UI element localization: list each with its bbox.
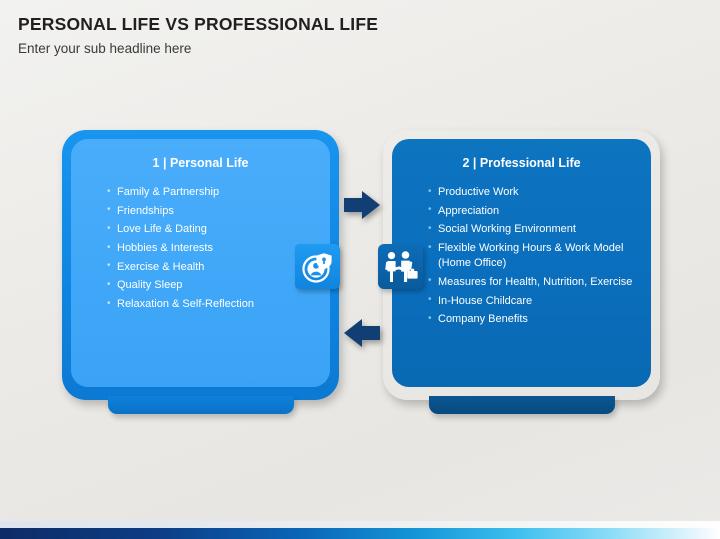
page-subtitle: Enter your sub headline here bbox=[18, 41, 678, 57]
panel-professional-life[interactable]: 2 | Professional Life Productive Work Ap… bbox=[383, 130, 660, 400]
list-item: Company Benefits bbox=[428, 312, 637, 327]
list-item: Social Working Environment bbox=[428, 222, 637, 237]
badge-professional bbox=[378, 244, 423, 289]
list-item: Measures for Health, Nutrition, Exercise bbox=[428, 275, 637, 290]
bottom-accent-bar bbox=[0, 528, 720, 539]
list-item: Productive Work bbox=[428, 185, 637, 200]
panel-foot bbox=[429, 396, 615, 414]
header: PERSONAL LIFE VS PROFESSIONAL LIFE Enter… bbox=[18, 14, 678, 57]
arrow-left-icon bbox=[344, 318, 380, 348]
panel-card: 2 | Professional Life Productive Work Ap… bbox=[392, 139, 651, 387]
panel-foot bbox=[108, 396, 294, 414]
list-item: Flexible Working Hours & Work Model (Hom… bbox=[428, 241, 637, 271]
list-professional-life: Productive Work Appreciation Social Work… bbox=[406, 185, 637, 327]
panel-title-personal: 1 | Personal Life bbox=[85, 156, 316, 171]
handshake-briefcase-icon bbox=[383, 250, 419, 284]
bottom-bar-glow bbox=[0, 521, 720, 528]
list-item: Relaxation & Self-Reflection bbox=[107, 297, 316, 312]
arrow-right-icon bbox=[344, 190, 380, 220]
list-item: Love Life & Dating bbox=[107, 222, 316, 237]
list-item: Quality Sleep bbox=[107, 278, 316, 293]
page-title: PERSONAL LIFE VS PROFESSIONAL LIFE bbox=[18, 14, 678, 34]
list-item: Exercise & Health bbox=[107, 260, 316, 275]
panel-title-professional: 2 | Professional Life bbox=[406, 156, 637, 171]
list-item: Appreciation bbox=[428, 204, 637, 219]
person-shield-icon bbox=[301, 250, 335, 284]
center-connector-column bbox=[330, 130, 392, 400]
list-item: In-House Childcare bbox=[428, 294, 637, 309]
list-item: Friendships bbox=[107, 204, 316, 219]
list-item: Hobbies & Interests bbox=[107, 241, 316, 256]
badge-personal bbox=[295, 244, 340, 289]
list-personal-life: Family & Partnership Friendships Love Li… bbox=[85, 185, 316, 312]
panel-card: 1 | Personal Life Family & Partnership F… bbox=[71, 139, 330, 387]
diagram-stage: 1 | Personal Life Family & Partnership F… bbox=[0, 118, 720, 418]
list-item: Family & Partnership bbox=[107, 185, 316, 200]
